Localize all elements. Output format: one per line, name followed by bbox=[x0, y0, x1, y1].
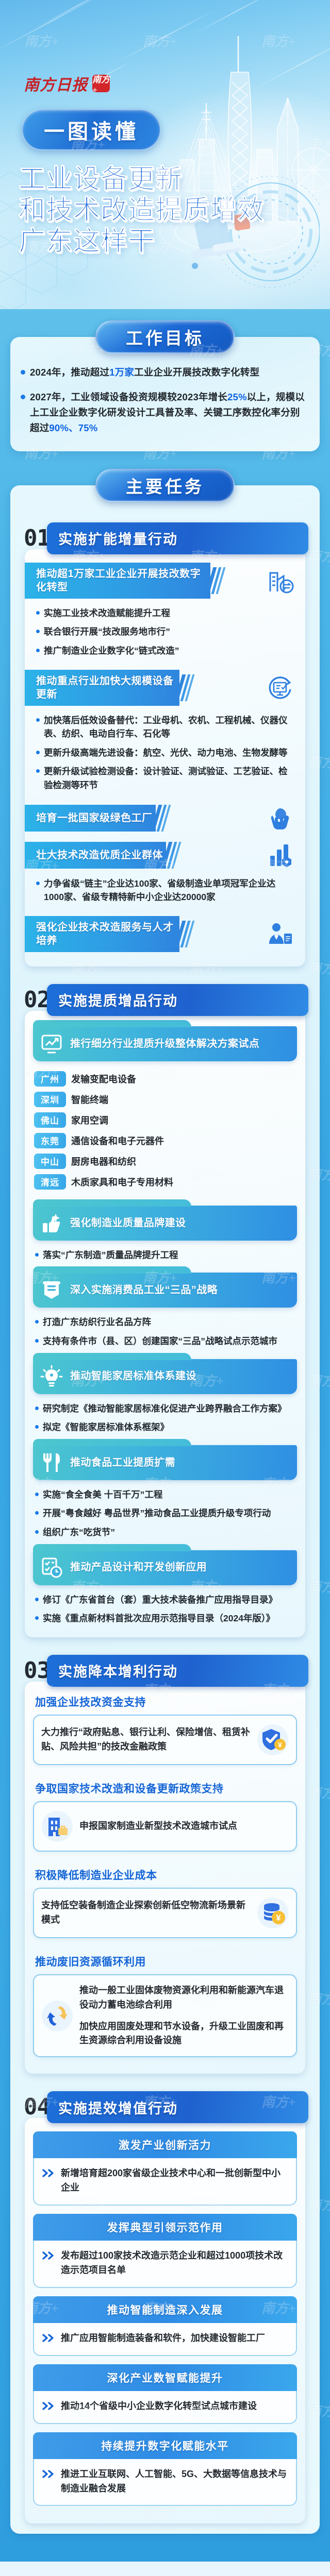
bullet-dot-icon bbox=[35, 1339, 39, 1343]
city-tag: 中山 bbox=[34, 1154, 66, 1169]
subsection-title: 培育一批国家级绿色工厂 bbox=[36, 811, 153, 825]
task-section-03: 03 实施降本增利行动 加强企业技改资金支持 大力推行“政府贴息、银行让利、保险… bbox=[22, 1655, 308, 2074]
recycle-arrows-icon bbox=[41, 2000, 73, 2032]
bullet-dot-icon bbox=[35, 1493, 39, 1496]
subsection-title: 推动产品设计和开发创新应用 bbox=[70, 1561, 207, 1574]
info-card: 支持低空装备制造企业探索创新低空物流新场景新模式 bbox=[33, 1888, 297, 1938]
title-line-2: 和技术改造提质增效 bbox=[19, 195, 287, 226]
publisher-logo: 南方日报 南方+ bbox=[24, 72, 110, 95]
goals-section: 工作目标 2024年，推动超过1万家工业企业开展技改数字化转型 2027年，工业… bbox=[0, 309, 330, 451]
subsection-title: 推动废旧资源循环利用 bbox=[25, 1945, 305, 1972]
subsection-header: 推行细分行业提质升级整体解决方案试点 bbox=[33, 1026, 297, 1061]
publisher-name: 南方日报 bbox=[24, 72, 88, 95]
bullet-text: 推广制造业企业数字化“链式改造” bbox=[44, 644, 179, 658]
city-tag: 东莞 bbox=[34, 1133, 66, 1148]
bullet-text: 拟定《智能家居标准体系框架》 bbox=[43, 1420, 169, 1434]
section-number: 04 bbox=[22, 2096, 50, 2119]
trend-up-monitor-icon bbox=[40, 1032, 63, 1055]
card-text: 推广应用智能制造装备和软件，加快建设智能工厂 bbox=[61, 2331, 265, 2346]
bullet-dot-icon bbox=[35, 1320, 39, 1324]
goals-heading-badge: 工作目标 bbox=[95, 320, 235, 353]
thumbs-up-icon bbox=[40, 1212, 63, 1234]
subsection-title: 深入实施消费品工业“三品”战略 bbox=[70, 1283, 218, 1297]
slash-decoration bbox=[155, 805, 167, 832]
slash-decoration bbox=[165, 842, 177, 869]
bullet-dot-icon bbox=[35, 1253, 39, 1257]
page-title: 工业设备更新 和技术改造提质增效 广东这样干 bbox=[19, 164, 287, 257]
info-card: 推广应用智能制造装备和软件，加快建设智能工厂 bbox=[33, 2323, 297, 2356]
subsection-header: 深化产业数智赋能提升 bbox=[33, 2364, 297, 2391]
subsection-title: 持续提升数字化赋能水平 bbox=[101, 2438, 229, 2453]
subsection-title: 推动智能家居标准体系建设 bbox=[70, 1369, 196, 1383]
section-number: 01 bbox=[22, 527, 50, 550]
bullet-dot-icon bbox=[21, 395, 25, 399]
bullet-dot-icon bbox=[36, 751, 40, 754]
slash-decoration bbox=[209, 567, 222, 594]
city-industry: 木质家具和电子专用材料 bbox=[71, 1175, 173, 1189]
bullet-text: 研究制定《推动智能家居标准化促进产业跨界融合工作方案》 bbox=[43, 1402, 287, 1416]
bullet-text: 组织广东“吃货节” bbox=[43, 1526, 115, 1539]
bullet-dot-icon bbox=[35, 1511, 39, 1515]
bullet-dot-icon bbox=[35, 1406, 39, 1410]
info-card: 大力推行“政府贴息、银行让利、保险增信、租赁补贴、风险共担”的技改金融政策 ¥ bbox=[33, 1715, 297, 1765]
bullet-list: 实施工业技术改造赋能提升工程 联合银行开展“技改服务地市行” 推广制造业企业数字… bbox=[25, 604, 305, 660]
bullet-text: 实施《重点新材料首批次应用示范指导目录（2024年版）》 bbox=[43, 1612, 275, 1625]
lightbulb-icon bbox=[40, 1365, 63, 1388]
subsection-header: 推动智能制造深入发展 bbox=[33, 2296, 297, 2323]
info-card: 推动一般工业固体废物资源化利用和新能源汽车退役动力蓄电池综合利用 加快应用固废处… bbox=[33, 1974, 297, 2058]
section-number: 02 bbox=[22, 989, 50, 1011]
city-industry: 发输变配电设备 bbox=[71, 1072, 136, 1086]
bullet-dot-icon bbox=[35, 1425, 39, 1429]
slash-decoration bbox=[178, 921, 191, 947]
info-card: 新增培育超200家省级企业技术中心和一批创新型中小企业 bbox=[33, 2158, 297, 2206]
city-industry-list: 广州发输变配电设备 深圳智能终端 佛山家用空调 东莞通信设备和电子元器件 中山厨… bbox=[25, 1066, 305, 1197]
card-text: 支持低空装备制造企业探索创新低空物流新场景新模式 bbox=[41, 1899, 251, 1927]
subsection-header: 推动重点行业加快大规模设备更新 bbox=[25, 670, 305, 706]
subsection-header: 持续提升数字化赋能水平 bbox=[33, 2432, 297, 2459]
bullet-dot-icon bbox=[36, 769, 40, 773]
infographic-page: 南方日报 南方+ 一图读懂 工业设备更新 和技术改造提质增效 广东这样干 工作目… bbox=[0, 0, 330, 2562]
city-row: 广州发输变配电设备 bbox=[34, 1069, 296, 1089]
subsection-title: 激发产业创新活力 bbox=[119, 2137, 211, 2153]
task-section-04: 04 实施提效增值行动 激发产业创新活力 新增培育超200家省级企业技术中心和一… bbox=[22, 2091, 308, 2523]
city-tag: 佛山 bbox=[34, 1112, 66, 1128]
badge-award-icon bbox=[40, 1279, 63, 1301]
bullet-dot-icon bbox=[35, 1530, 39, 1534]
subsection-title: 强化制造业质量品牌建设 bbox=[70, 1216, 186, 1230]
subsection-title: 推动食品工业提质扩需 bbox=[70, 1456, 175, 1469]
bullet-list: 加快落后低效设备替代：工业母机、农机、工程机械、仪器仪表、纺织、电动自行车、石化… bbox=[25, 711, 305, 795]
bullet-text: 联合银行开展“技改服务地市行” bbox=[44, 625, 170, 639]
goal-text: 2027年，工业领域设备投资规模较2023年增长25%以上，规模以上工业企业数字… bbox=[30, 389, 309, 436]
subsection-header: 激发产业创新活力 bbox=[33, 2131, 297, 2158]
tasks-panel: 01 实施扩能增量行动 推动超1万家工业企业开展技改数字化转型 bbox=[10, 485, 320, 2534]
bar-chart-icon bbox=[266, 841, 294, 869]
subsection-header: 推动智能家居标准体系建设 bbox=[33, 1359, 297, 1394]
section-number: 03 bbox=[22, 1659, 50, 1682]
bullet-text: 实施工业技术改造赋能提升工程 bbox=[44, 606, 170, 620]
city-industry: 通信设备和电子元器件 bbox=[71, 1134, 164, 1147]
bullet-dot-icon bbox=[35, 1598, 39, 1601]
double-chevron-right-icon bbox=[41, 2250, 56, 2261]
goals-panel: 2024年，推动超过1万家工业企业开展技改数字化转型 2027年，工业领域设备投… bbox=[10, 337, 320, 451]
task-section-02: 02 实施提质增品行动 bbox=[22, 984, 308, 1637]
city-industry: 智能终端 bbox=[71, 1093, 108, 1106]
city-row: 东莞通信设备和电子元器件 bbox=[34, 1130, 296, 1151]
shield-check-yuan-icon: ¥ bbox=[257, 1724, 289, 1756]
title-line-1: 工业设备更新 bbox=[19, 164, 287, 195]
card-text: 加快应用固废处理和节水设备，升级工业固废和再生资源综合利用设备设施 bbox=[79, 2020, 289, 2048]
fork-knife-icon bbox=[40, 1451, 63, 1474]
city-tag: 深圳 bbox=[34, 1092, 66, 1107]
city-row: 清远木质家具和电子专用材料 bbox=[34, 1172, 296, 1192]
city-row: 深圳智能终端 bbox=[34, 1089, 296, 1110]
double-chevron-right-icon bbox=[41, 2333, 56, 2343]
card-text: 推进工业互联网、人工智能、5G、大数据等信息技术与制造业融合发展 bbox=[61, 2467, 288, 2496]
hero-banner: 南方日报 南方+ 一图读懂 工业设备更新 和技术改造提质增效 广东这样干 bbox=[0, 0, 330, 309]
subsection-header: 推动超1万家工业企业开展技改数字化转型 bbox=[25, 563, 305, 599]
read-at-a-glance-badge: 一图读懂 bbox=[22, 109, 161, 150]
bullet-text: 打造广东纺织行业名品方阵 bbox=[43, 1315, 151, 1329]
city-row: 中山厨房电器和纺织 bbox=[34, 1151, 296, 1172]
coins-yuan-icon: ¥ bbox=[257, 1897, 289, 1929]
title-line-3: 广东这样干 bbox=[19, 226, 287, 257]
subsection-header: 推动产品设计和开发创新应用 bbox=[33, 1550, 297, 1585]
double-chevron-right-icon bbox=[41, 2401, 56, 2411]
double-chevron-right-icon bbox=[41, 2469, 56, 2479]
subsection-header: 推动食品工业提质扩需 bbox=[33, 1445, 297, 1480]
subsection-title: 推行细分行业提质升级整体解决方案试点 bbox=[70, 1037, 259, 1050]
info-card: 申报国家制造业新型技术改造城市试点 bbox=[33, 1801, 297, 1852]
bullet-dot-icon bbox=[36, 611, 40, 615]
subsection-title: 推动超1万家工业企业开展技改数字化转型 bbox=[36, 567, 207, 594]
subsection-title: 发挥典型引领示范作用 bbox=[107, 2219, 223, 2235]
subsection-title: 加强企业技改资金支持 bbox=[25, 1686, 305, 1713]
subsection-title: 深化产业数智赋能提升 bbox=[107, 2370, 223, 2385]
bullet-text: 落实“广东制造”质量品牌提升工程 bbox=[43, 1248, 178, 1262]
goal-text: 2024年，推动超过1万家工业企业开展技改数字化转型 bbox=[30, 365, 259, 380]
tasks-heading-label: 主要任务 bbox=[126, 473, 204, 498]
bullet-text: 力争省级“链主”企业达100家、省级制造业单项冠军企业达1000家、省级专精特新… bbox=[44, 877, 294, 904]
slash-decoration bbox=[178, 674, 191, 701]
double-chevron-right-icon bbox=[41, 2168, 56, 2178]
subsection-header: 发挥典型引领示范作用 bbox=[33, 2214, 297, 2241]
bullet-dot-icon bbox=[36, 718, 40, 722]
city-industry: 厨房电器和纺织 bbox=[71, 1155, 136, 1168]
subsection-title: 壮大技术改造优质企业群体 bbox=[36, 849, 163, 862]
tasks-heading-badge: 主要任务 bbox=[95, 469, 235, 502]
card-text: 发布超过100家技术改造示范企业和超过1000项技术改造示范项目名单 bbox=[61, 2249, 288, 2278]
city-industry: 家用空调 bbox=[71, 1113, 108, 1127]
section-title: 实施提质增品行动 bbox=[58, 990, 178, 1010]
subsection-title: 推动重点行业加快大规模设备更新 bbox=[36, 674, 176, 701]
card-text: 推动14个省级中小企业数字化转型试点城市建设 bbox=[61, 2399, 257, 2414]
section-title: 实施扩能增量行动 bbox=[58, 528, 178, 548]
info-card: 推进工业互联网、人工智能、5G、大数据等信息技术与制造业融合发展 bbox=[33, 2459, 297, 2506]
section-title: 实施降本增利行动 bbox=[58, 1660, 178, 1681]
card-text: 新增培育超200家省级企业技术中心和一批创新型中小企业 bbox=[61, 2166, 288, 2195]
info-card: 推动14个省级中小企业数字化转型试点城市建设 bbox=[33, 2391, 297, 2424]
bullet-text: 更新升级高端先进设备：航空、光伏、动力电池、生物发酵等 bbox=[44, 746, 288, 760]
bullet-dot-icon bbox=[36, 882, 40, 885]
tasks-section: 主要任务 01 实施扩能增量行动 推动超1万家工业企业开展技改数字化转型 bbox=[0, 451, 330, 2534]
subsection-header: 深入实施消费品工业“三品”战略 bbox=[33, 1273, 297, 1308]
city-tag: 广州 bbox=[34, 1071, 66, 1087]
city-row: 佛山家用空调 bbox=[34, 1110, 296, 1130]
city-tag: 清远 bbox=[34, 1174, 66, 1190]
goals-heading-label: 工作目标 bbox=[126, 325, 204, 349]
bullet-dot-icon bbox=[35, 1616, 39, 1620]
subsection-header: 强化制造业质量品牌建设 bbox=[33, 1206, 297, 1241]
subsection-title: 推动智能制造深入发展 bbox=[107, 2302, 223, 2317]
hands-leaf-icon bbox=[266, 804, 294, 832]
svg-text:¥: ¥ bbox=[276, 1913, 281, 1923]
factory-exchange-icon bbox=[266, 567, 294, 595]
checklist-clock-icon bbox=[40, 1556, 63, 1579]
person-document-icon bbox=[266, 920, 294, 948]
card-text: 推动一般工业固体废物资源化利用和新能源汽车退役动力蓄电池综合利用 bbox=[79, 1984, 289, 2012]
bullet-text: 开展“粤食越好 粤品世界”推动食品工业提质升级专项行动 bbox=[43, 1506, 271, 1520]
bullet-dot-icon bbox=[36, 649, 40, 652]
card-text: 大力推行“政府贴息、银行让利、保险增信、租赁补贴、风险共担”的技改金融政策 bbox=[41, 1725, 251, 1754]
bullet-dot-icon bbox=[36, 630, 40, 633]
bullet-list: 力争省级“链主”企业达100家、省级制造业单项冠军企业达1000家、省级专精特新… bbox=[25, 874, 305, 907]
bullet-text: 加快落后低效设备替代：工业母机、农机、工程机械、仪器仪表、纺织、电动自行车、石化… bbox=[44, 714, 294, 741]
card-text: 申报国家制造业新型技术改造城市试点 bbox=[79, 1819, 289, 1834]
subsection-header: 强化企业技术改造服务与人才培养 bbox=[25, 916, 305, 952]
subsection-title: 强化企业技术改造服务与人才培养 bbox=[36, 921, 176, 947]
task-section-01: 01 实施扩能增量行动 推动超1万家工业企业开展技改数字化转型 bbox=[22, 522, 308, 967]
subsection-title: 积极降低制造业企业成本 bbox=[25, 1859, 305, 1886]
read-badge-label: 一图读懂 bbox=[44, 115, 139, 145]
bullet-text: 实施“食全食美 十百千万”工程 bbox=[43, 1488, 162, 1502]
section-title: 实施提效增值行动 bbox=[58, 2097, 178, 2117]
app-badge-icon: 南方+ bbox=[92, 75, 110, 92]
bullet-text: 支持有条件市（县、区）创建国家“三品”战略试点示范城市 bbox=[43, 1334, 277, 1348]
info-card: 发布超过100家技术改造示范企业和超过1000项技术改造示范项目名单 bbox=[33, 2241, 297, 2288]
subsection-header: 壮大技术改造优质企业群体 bbox=[25, 841, 305, 869]
monitor-refresh-icon bbox=[266, 674, 294, 702]
building-briefcase-icon bbox=[41, 1810, 73, 1842]
content-body: 工作目标 2024年，推动超过1万家工业企业开展技改数字化转型 2027年，工业… bbox=[0, 309, 330, 2562]
bullet-dot-icon bbox=[21, 370, 25, 375]
bullet-text: 修订《广东省首台（套）重大技术装备推广应用指导目录》 bbox=[43, 1593, 277, 1607]
subsection-title: 争取国家技术改造和设备更新政策支持 bbox=[25, 1772, 305, 1799]
goal-item: 2027年，工业领域设备投资规模较2023年增长25%以上，规模以上工业企业数字… bbox=[18, 385, 312, 441]
bullet-text: 更新升级试验检测设备：设计验证、测试验证、工艺验证、检验检测等环节 bbox=[44, 765, 294, 792]
svg-text:¥: ¥ bbox=[278, 1740, 282, 1749]
subsection-header: 培育一批国家级绿色工厂 bbox=[25, 804, 305, 832]
goal-item: 2024年，推动超过1万家工业企业开展技改数字化转型 bbox=[18, 361, 312, 385]
